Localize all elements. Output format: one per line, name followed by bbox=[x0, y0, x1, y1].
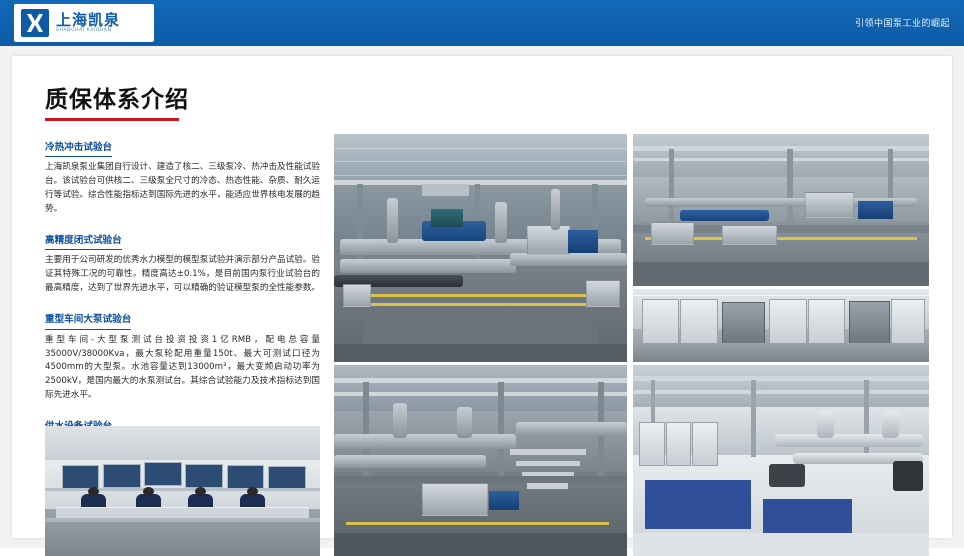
photo-control-room bbox=[45, 426, 320, 556]
logo[interactable]: 上海凯泉 SHANGHAI KAIQUAN bbox=[14, 4, 154, 42]
section-body: 上海凯泉泵业集团自行设计、建造了核二、三级泵冷、热冲击及性能试验台。该试验台可供… bbox=[45, 161, 320, 217]
photo-large-hall bbox=[633, 365, 929, 556]
kaiquan-logo-icon bbox=[20, 8, 50, 38]
section-heavy-workshop-pump: 重型车间大泵试验台 重型车间-大型泵测试台投资投资1亿RMB，配电总容量3500… bbox=[45, 307, 320, 403]
section-heading: 重型车间大泵试验台 bbox=[45, 313, 131, 329]
logo-name-en: SHANGHAI KAIQUAN bbox=[56, 29, 120, 34]
topbar-slogan: 引领中国泵工业的崛起 bbox=[855, 16, 950, 29]
section-heading: 高精度闭式试验台 bbox=[45, 234, 122, 250]
title-underline bbox=[45, 118, 179, 121]
logo-text: 上海凯泉 SHANGHAI KAIQUAN bbox=[56, 13, 120, 33]
section-body: 重型车间-大型泵测试台投资投资1亿RMB，配电总容量35000V/38000Kv… bbox=[45, 334, 320, 404]
section-high-precision-closed: 高精度闭式试验台 主要用于公司研发的优秀水力模型的模型泵试验并演示部分产品试验。… bbox=[45, 228, 320, 296]
section-heading: 冷热冲击试验台 bbox=[45, 141, 112, 157]
page-background: 质保体系介绍 冷热冲击试验台 上海凯泉泵业集团自行设计、建造了核二、三级泵冷、热… bbox=[0, 46, 964, 548]
top-bar: 上海凯泉 SHANGHAI KAIQUAN 引领中国泵工业的崛起 bbox=[0, 0, 964, 46]
section-cold-hot-shock: 冷热冲击试验台 上海凯泉泵业集团自行设计、建造了核二、三级泵冷、热冲击及性能试验… bbox=[45, 135, 320, 217]
photo-test-bed bbox=[334, 365, 627, 556]
section-body: 主要用于公司研发的优秀水力模型的模型泵试验并演示部分产品试验。验证其特殊工况的可… bbox=[45, 254, 320, 296]
slide-sheet: 质保体系介绍 冷热冲击试验台 上海凯泉泵业集团自行设计、建造了核二、三级泵冷、热… bbox=[12, 56, 952, 538]
photo-control-cabinets bbox=[633, 289, 929, 362]
photo-workshop-main bbox=[334, 134, 627, 362]
logo-name-cn: 上海凯泉 bbox=[56, 13, 120, 29]
page-title: 质保体系介绍 bbox=[45, 80, 320, 114]
photo-pump-hall bbox=[633, 134, 929, 286]
